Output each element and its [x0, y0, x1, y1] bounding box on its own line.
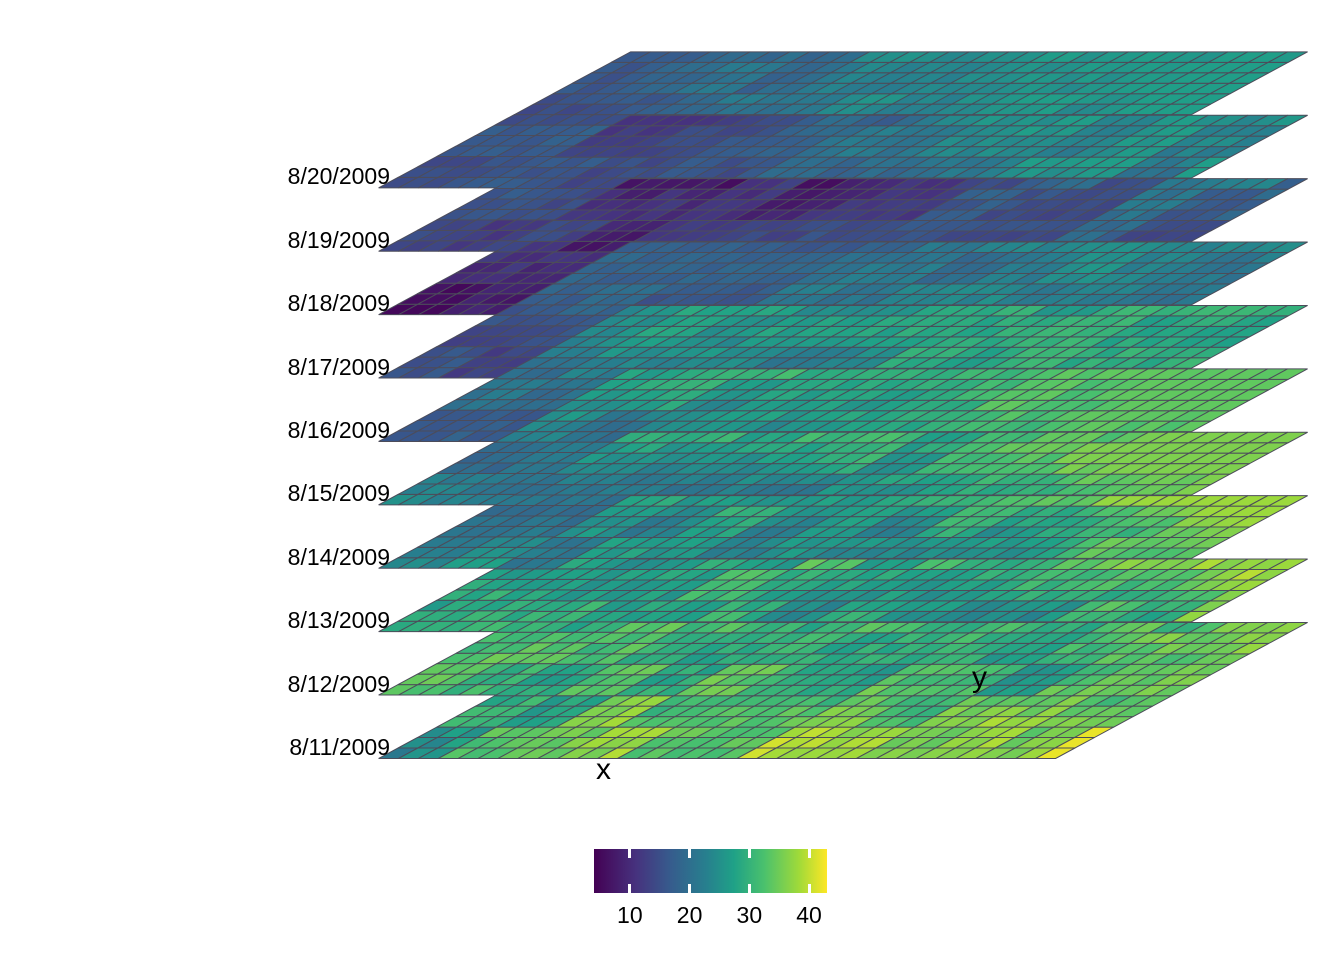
date-label: 8/18/2009 [288, 292, 390, 315]
date-label: 8/12/2009 [288, 673, 390, 696]
date-label: 8/20/2009 [288, 165, 390, 188]
date-label: 8/15/2009 [288, 482, 390, 505]
legend-tick-label: 20 [660, 904, 720, 927]
stacked-raster-chart: 8/20/20098/19/20098/18/20098/17/20098/16… [0, 0, 1344, 960]
legend-tick-mark [628, 884, 631, 893]
date-label: 8/17/2009 [288, 356, 390, 379]
date-label: 8/19/2009 [288, 229, 390, 252]
layer-stack [0, 0, 1344, 960]
legend-tick-mark [688, 849, 691, 858]
date-label: 8/14/2009 [288, 546, 390, 569]
legend-tick-label: 30 [719, 904, 779, 927]
legend-tick-mark [688, 884, 691, 893]
legend-tick-mark [628, 849, 631, 858]
date-label: 8/16/2009 [288, 419, 390, 442]
legend-tick-mark [808, 884, 811, 893]
date-label: 8/13/2009 [288, 609, 390, 632]
legend-tick-mark [748, 849, 751, 858]
legend-tick-label: 10 [600, 904, 660, 927]
legend-tick-mark [808, 849, 811, 858]
legend-tick-mark [748, 884, 751, 893]
legend-tick-label: 40 [779, 904, 839, 927]
y-axis-label: y [972, 663, 987, 693]
date-label: 8/11/2009 [289, 736, 390, 759]
x-axis-label: x [596, 755, 611, 785]
